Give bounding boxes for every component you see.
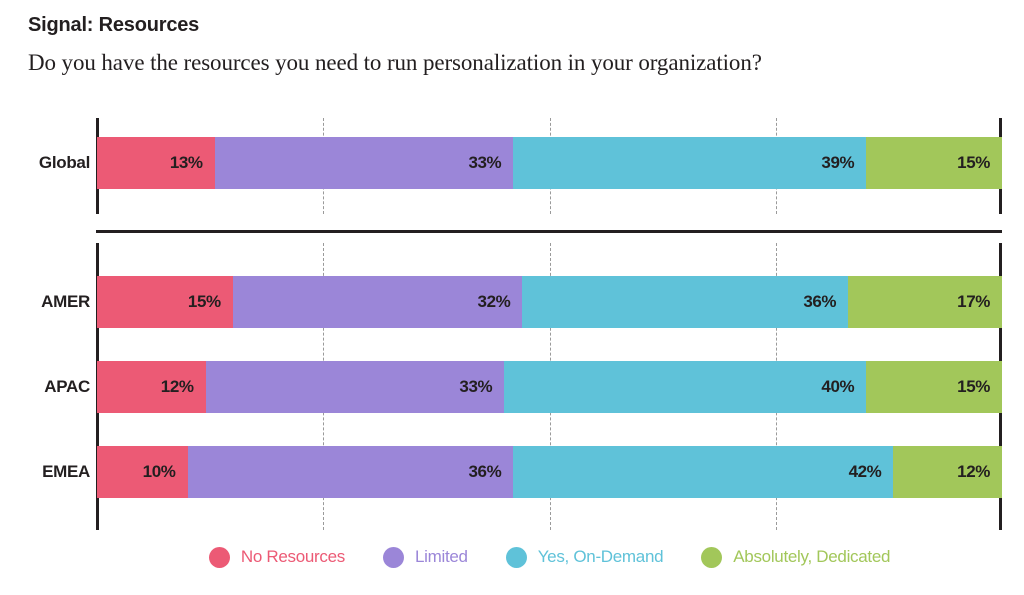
bar-row-amer: AMER15%32%36%17%	[0, 276, 1024, 328]
row-label-amer: AMER	[0, 276, 90, 328]
legend-label: Limited	[415, 547, 468, 567]
chart-legend: No ResourcesLimitedYes, On-DemandAbsolut…	[97, 540, 1002, 574]
bar-segment[interactable]: 42%	[513, 446, 893, 498]
legend-label: Absolutely, Dedicated	[733, 547, 890, 567]
bar-track-amer: 15%32%36%17%	[97, 276, 1002, 328]
bar-row-global: Global13%33%39%15%	[0, 137, 1024, 189]
bar-segment[interactable]: 15%	[866, 361, 1002, 413]
bar-track-global: 13%33%39%15%	[97, 137, 1002, 189]
stacked-bar-chart: Global13%33%39%15%AMER15%32%36%17%APAC12…	[0, 0, 1024, 595]
legend-swatch-circle-icon	[209, 547, 230, 568]
legend-label: Yes, On-Demand	[538, 547, 664, 567]
bar-track-emea: 10%36%42%12%	[97, 446, 1002, 498]
group-separator-rule	[96, 230, 1002, 233]
legend-swatch-circle-icon	[383, 547, 404, 568]
row-label-apac: APAC	[0, 361, 90, 413]
legend-item[interactable]: Limited	[383, 547, 468, 568]
bar-segment[interactable]: 12%	[893, 446, 1002, 498]
legend-item[interactable]: Absolutely, Dedicated	[701, 547, 890, 568]
bar-segment[interactable]: 40%	[504, 361, 866, 413]
bar-row-apac: APAC12%33%40%15%	[0, 361, 1024, 413]
bar-segment[interactable]: 33%	[206, 361, 505, 413]
legend-label: No Resources	[241, 547, 345, 567]
bar-segment[interactable]: 15%	[866, 137, 1002, 189]
bar-track-apac: 12%33%40%15%	[97, 361, 1002, 413]
legend-swatch-circle-icon	[701, 547, 722, 568]
bar-segment[interactable]: 36%	[522, 276, 848, 328]
bar-segment[interactable]: 12%	[97, 361, 206, 413]
bar-segment[interactable]: 36%	[188, 446, 514, 498]
bar-segment[interactable]: 39%	[513, 137, 866, 189]
bar-row-emea: EMEA10%36%42%12%	[0, 446, 1024, 498]
legend-item[interactable]: Yes, On-Demand	[506, 547, 664, 568]
legend-item[interactable]: No Resources	[209, 547, 345, 568]
row-label-emea: EMEA	[0, 446, 90, 498]
bar-segment[interactable]: 17%	[848, 276, 1002, 328]
bar-segment[interactable]: 33%	[215, 137, 514, 189]
row-label-global: Global	[0, 137, 90, 189]
bar-segment[interactable]: 13%	[97, 137, 215, 189]
bar-segment[interactable]: 32%	[233, 276, 523, 328]
legend-swatch-circle-icon	[506, 547, 527, 568]
bar-segment[interactable]: 15%	[97, 276, 233, 328]
bar-segment[interactable]: 10%	[97, 446, 188, 498]
